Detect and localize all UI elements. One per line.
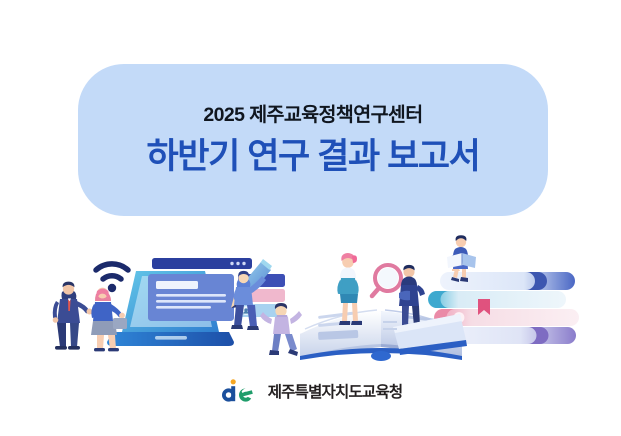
banner-subtitle: 2025 제주교육정책연구센터 — [203, 106, 422, 126]
organization-name: 제주특별자치도교육청 — [268, 385, 403, 401]
businessman-figure — [53, 282, 93, 350]
header-banner: 2025 제주교육정책연구센터 하반기 연구 결과 보고서 — [78, 64, 548, 216]
illustration-area — [0, 228, 621, 366]
book-stack-teal — [428, 291, 566, 308]
magnifying-glass-icon — [372, 265, 401, 296]
dje-logo-icon — [219, 379, 259, 408]
banner-title: 하반기 연구 결과 보고서 — [147, 139, 480, 174]
footer-logo: 제주특별자치도교육청 — [0, 378, 621, 408]
